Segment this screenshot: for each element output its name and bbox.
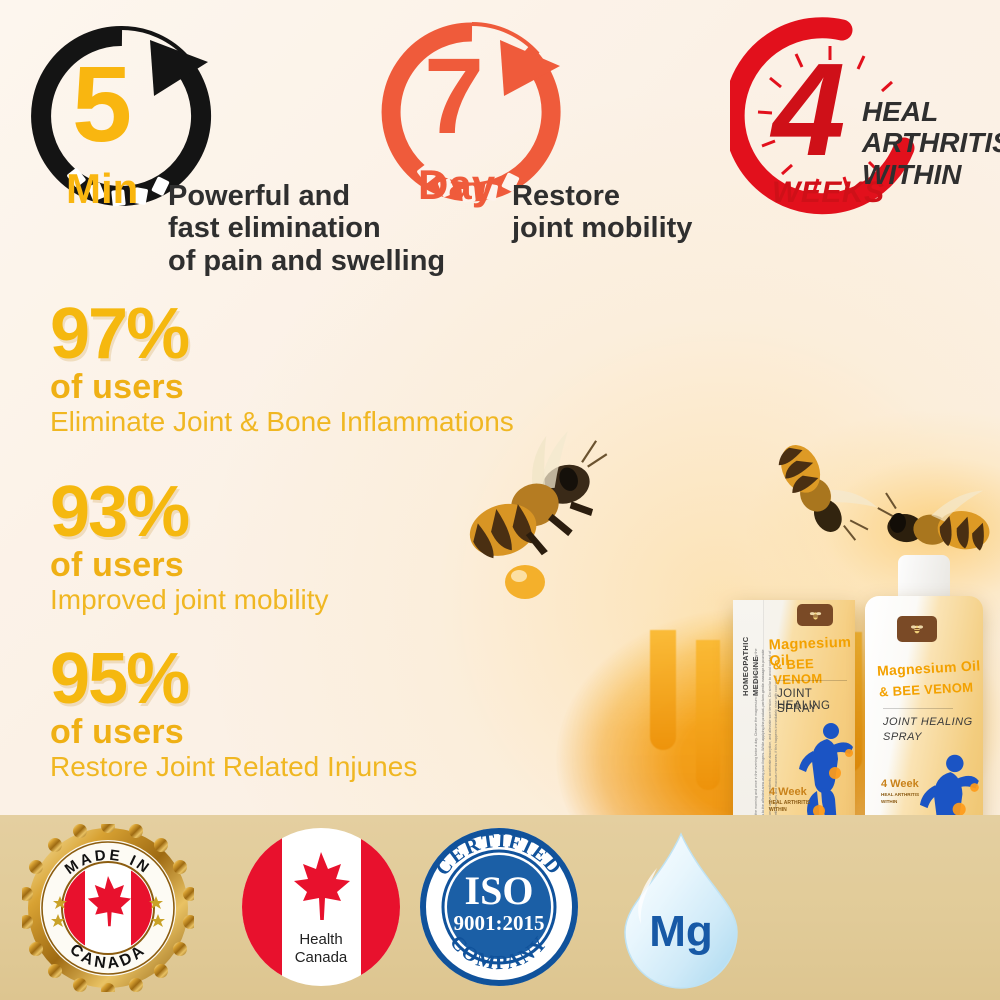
iso-center-line2: 9001:2015	[454, 911, 545, 935]
badge-copy-seven-day: Restore joint mobility	[512, 180, 692, 245]
badge-unit: Min	[66, 168, 138, 210]
iso-certified-badge: ISO 9001:2015 CERTIFIED COMPANY	[418, 826, 580, 988]
honey-drip	[650, 630, 676, 750]
divider	[777, 680, 847, 681]
bottle-brand-line2: & BEE VENOM	[879, 680, 974, 700]
stat-block-95: 95% of users Restore Joint Related Injun…	[50, 645, 417, 783]
bee-illustration	[455, 430, 635, 605]
bottle-type-line1: JOINT HEALING	[883, 716, 973, 728]
made-in-canada-seal: MADE IN CANADA	[22, 824, 194, 992]
stat-of-users: of users	[50, 715, 417, 751]
bottle-type-line2: SPRAY	[883, 731, 922, 743]
brand-logo	[797, 604, 833, 626]
badge-number: 7	[424, 42, 482, 150]
bottle-brand-line1: Magnesium Oil	[877, 657, 981, 678]
maple-leaf-icon	[275, 844, 367, 936]
stat-of-users: of users	[50, 548, 329, 584]
badge-copy-four-weeks: HEAL ARTHRITIS WITHIN	[862, 96, 1000, 190]
stat-description: Improved joint mobility	[50, 585, 329, 616]
brand-logo	[897, 616, 937, 642]
stat-description: Eliminate Joint & Bone Inflammations	[50, 407, 514, 438]
product-brand-line2: & BEE VENOM	[773, 655, 856, 688]
magnesium-symbol: Mg	[649, 907, 713, 956]
bottle-claim-4week-title: 4 Week	[881, 778, 919, 790]
stat-percent: 97%	[50, 300, 514, 368]
stat-percent: 95%	[50, 645, 417, 713]
badge-number: 5	[72, 50, 130, 158]
stat-percent: 93%	[50, 478, 329, 546]
divider	[883, 708, 953, 709]
health-canada-badge: Health Canada	[242, 828, 400, 986]
stat-description: Restore Joint Related Injunes	[50, 752, 417, 783]
bee-logo-icon	[809, 610, 822, 621]
box-claim-4week-title: 4 Week	[769, 786, 807, 798]
stat-block-97: 97% of users Eliminate Joint & Bone Infl…	[50, 300, 514, 438]
bee-illustration	[760, 435, 880, 555]
advertisement-canvas: 5 Min Powerful and fast elimination of p…	[0, 0, 1000, 1000]
health-canada-label-line1: Health	[242, 932, 400, 948]
product-type-line2: SPRAY	[777, 703, 817, 715]
honey-drip	[696, 640, 720, 790]
stat-of-users: of users	[50, 370, 514, 406]
badge-unit: Day	[418, 164, 495, 206]
bee-logo-icon	[910, 623, 924, 635]
stat-block-93: 93% of users Improved joint mobility	[50, 478, 329, 616]
box-claim-4week-sub: HEAL ARTHRITIS WITHIN	[769, 800, 825, 814]
bottle-claim-4week-sub: HEAL ARTHRITIS WITHIN	[881, 792, 927, 806]
badge-number: 4	[772, 44, 843, 176]
health-canada-label-line2: Canada	[242, 950, 400, 966]
iso-center-line1: ISO	[465, 868, 534, 913]
magnesium-drop-badge: Mg	[617, 828, 745, 996]
